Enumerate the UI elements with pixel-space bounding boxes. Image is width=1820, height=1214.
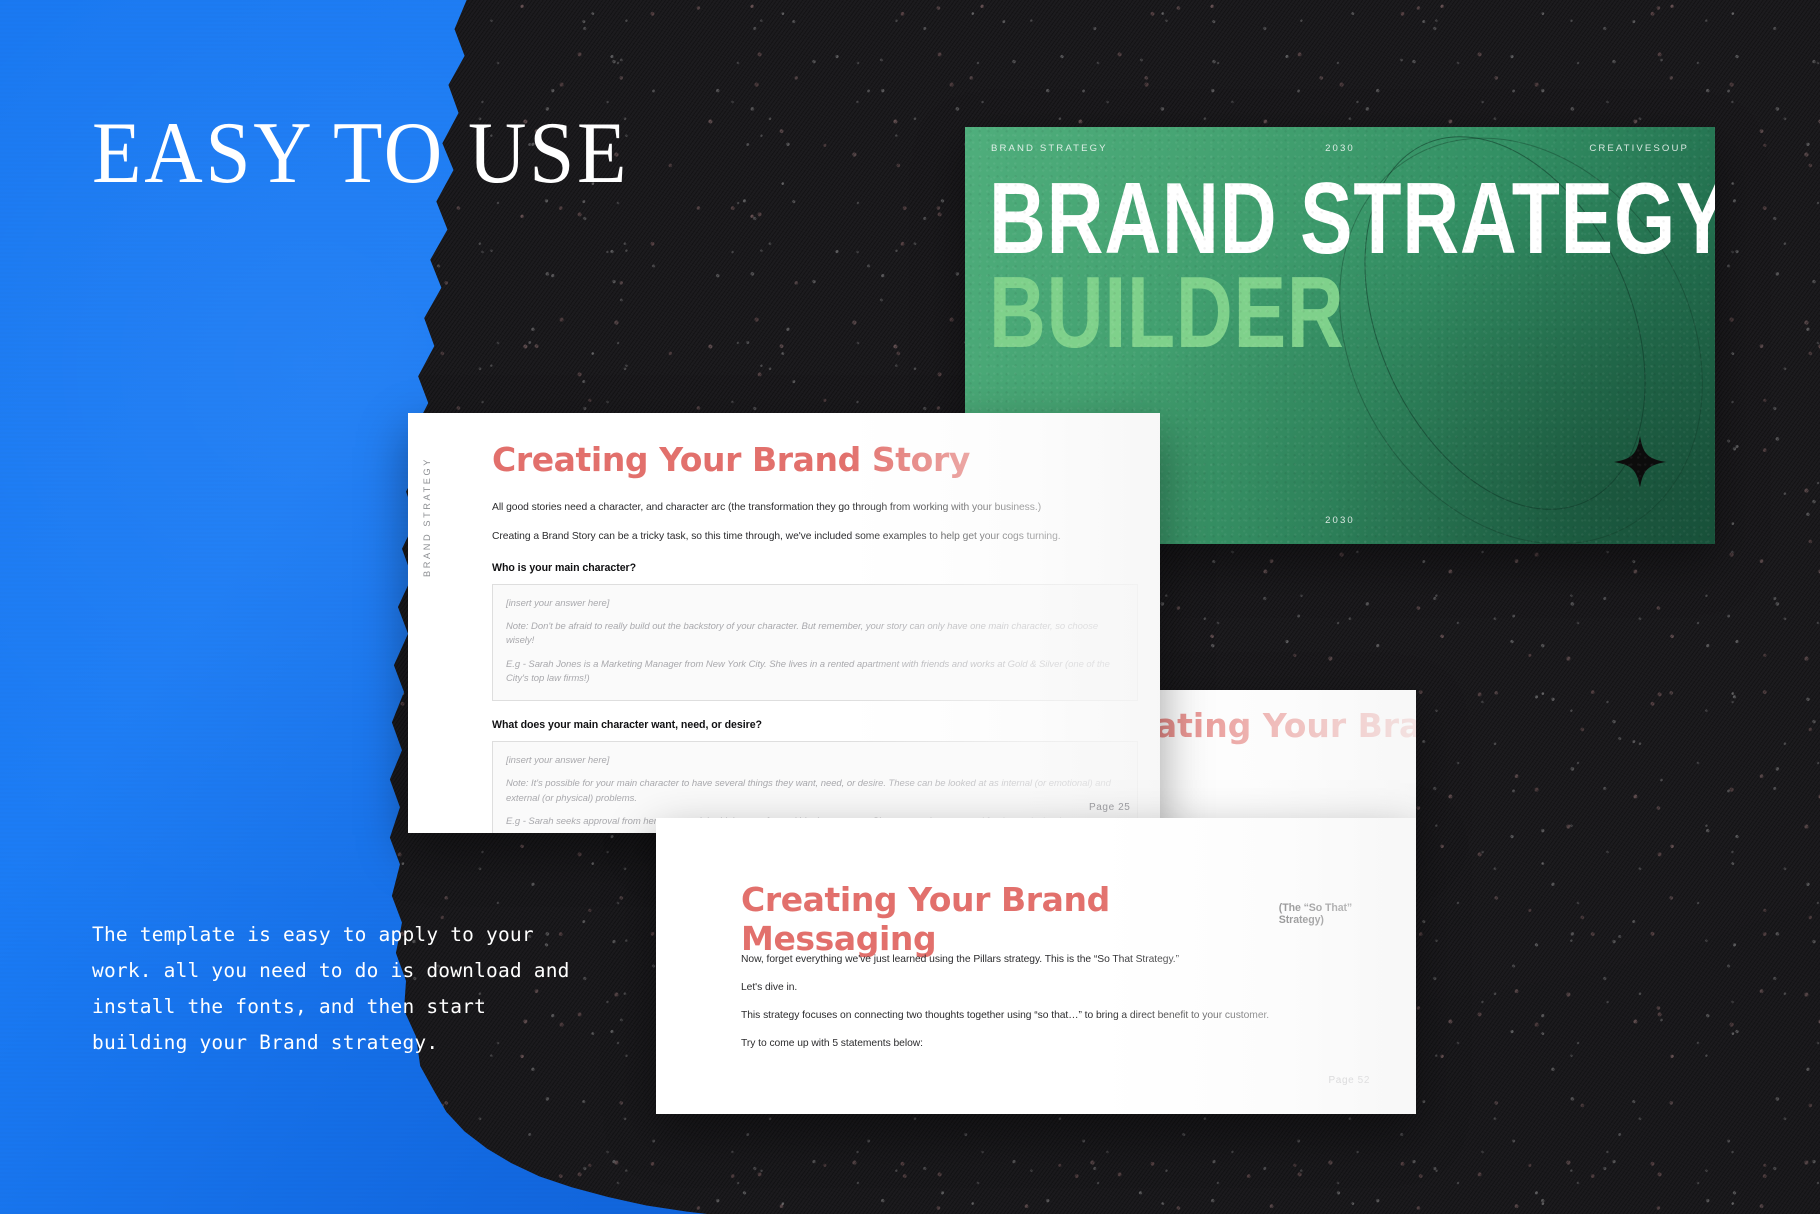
intro-paragraph-2: Creating a Brand Story can be a tricky t… <box>492 530 1138 545</box>
page-number-25: Page 25 <box>1089 802 1130 813</box>
promo-description: The template is easy to apply to your wo… <box>92 917 592 1061</box>
cover-title-line-1: BRAND STRATEGY <box>989 173 1715 267</box>
answer-note-1: Note: Don't be afraid to really build ou… <box>506 620 1124 649</box>
answer-field-1[interactable]: [insert your answer here] Note: Don't be… <box>492 584 1138 701</box>
page-number-52: Page 52 <box>1329 1075 1370 1086</box>
cover-meta-brand: CREATIVESOUP <box>1589 143 1689 154</box>
question-label-1: Who is your main character? <box>492 562 1138 574</box>
answer-example-1: E.g - Sarah Jones is a Marketing Manager… <box>506 658 1124 687</box>
brand-story-slide-card[interactable]: BRAND STRATEGY Creating Your Brand Story… <box>408 413 1160 833</box>
answer-placeholder-2: [insert your answer here] <box>506 754 1124 768</box>
page-title: EASY TO USE <box>92 110 629 198</box>
brand-messaging-slide-card[interactable]: Creating Your Brand Messaging (The “So T… <box>656 818 1416 1114</box>
presentation-mockup-canvas: EASY TO USE The template is easy to appl… <box>0 0 1820 1214</box>
question-label-2: What does your main character want, need… <box>492 719 1138 731</box>
answer-note-2: Note: It's possible for your main charac… <box>506 777 1124 806</box>
answer-placeholder-1: [insert your answer here] <box>506 597 1124 611</box>
four-point-star-icon <box>1614 436 1666 488</box>
messaging-paragraph-2: Let's dive in. <box>741 981 1376 996</box>
slide-side-tab-label: BRAND STRATEGY <box>422 457 432 577</box>
messaging-paragraph-4: Try to come up with 5 statements below: <box>741 1037 1376 1052</box>
cover-title: BRAND STRATEGY BUILDER <box>989 173 1715 361</box>
messaging-paragraph-3: This strategy focuses on connecting two … <box>741 1009 1376 1024</box>
slide-heading: Creating Your Brand Story <box>492 440 1138 479</box>
messaging-paragraph-1: Now, forget everything we've just learne… <box>741 953 1376 968</box>
cover-title-line-2: BUILDER <box>989 267 1715 361</box>
slide-subheading: (The “So That” Strategy) <box>1279 902 1390 926</box>
intro-paragraph-1: All good stories need a character, and c… <box>492 501 1138 516</box>
slide-heading: Creating Your Brand Messaging <box>741 880 1269 958</box>
